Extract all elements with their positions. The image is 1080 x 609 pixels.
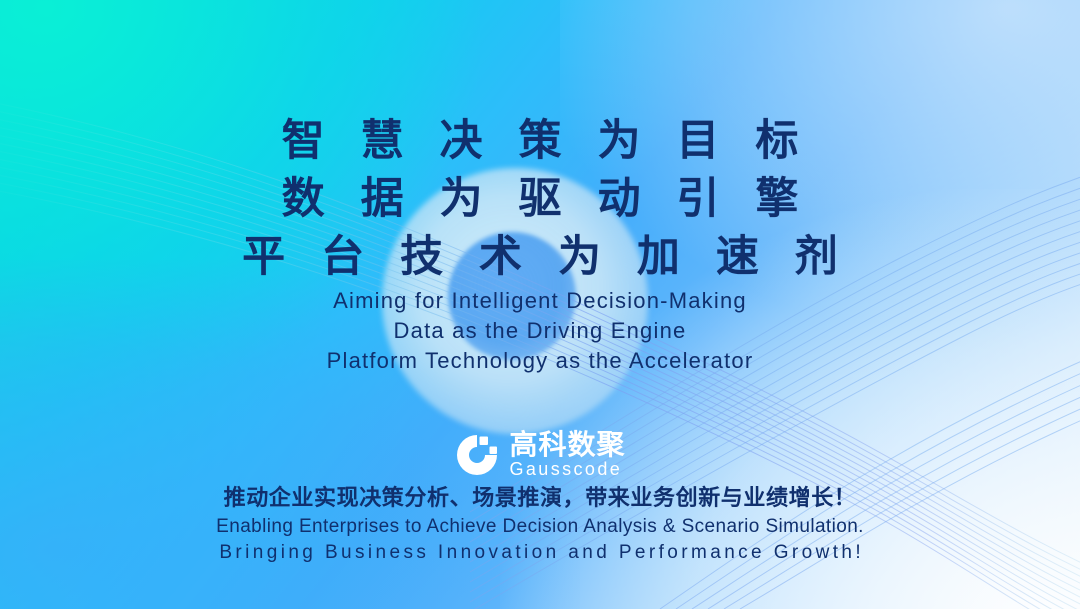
poster-canvas: 智 慧 决 策 为 目 标 数 据 为 驱 动 引 擎 平 台 技 术 为 加 … — [0, 0, 1080, 609]
subheadline-line-3: Platform Technology as the Accelerator — [0, 346, 1080, 376]
footer-tagline-cn: 推动企业实现决策分析、场景推演，带来业务创新与业绩增长！ — [0, 482, 1080, 514]
footer-tagline-en-line-1: Enabling Enterprises to Achieve Decision… — [0, 514, 1080, 540]
footer-tagline-en-line-2: Bringing Business Innovation and Perform… — [0, 540, 1080, 566]
headline-block: 智 慧 决 策 为 目 标 数 据 为 驱 动 引 擎 平 台 技 术 为 加 … — [0, 112, 1080, 286]
brand-logo-wordmark: 高科数聚 Gausscode — [509, 430, 625, 479]
footer-block: 推动企业实现决策分析、场景推演，带来业务创新与业绩增长！ Enabling En… — [0, 482, 1080, 566]
brand-logo: 高科数聚 Gausscode — [0, 430, 1080, 479]
brand-name-cn: 高科数聚 — [509, 430, 625, 459]
subheadline-line-2: Data as the Driving Engine — [0, 316, 1080, 346]
headline-line-1: 智 慧 决 策 为 目 标 — [0, 112, 1080, 170]
gausscode-ring-icon — [454, 432, 500, 478]
subheadline-line-1: Aiming for Intelligent Decision-Making — [0, 286, 1080, 316]
headline-line-3: 平 台 技 术 为 加 速 剂 — [0, 228, 1080, 286]
brand-name-en: Gausscode — [509, 459, 625, 479]
subheadline-block: Aiming for Intelligent Decision-Making D… — [0, 286, 1080, 376]
headline-line-2: 数 据 为 驱 动 引 擎 — [0, 170, 1080, 228]
